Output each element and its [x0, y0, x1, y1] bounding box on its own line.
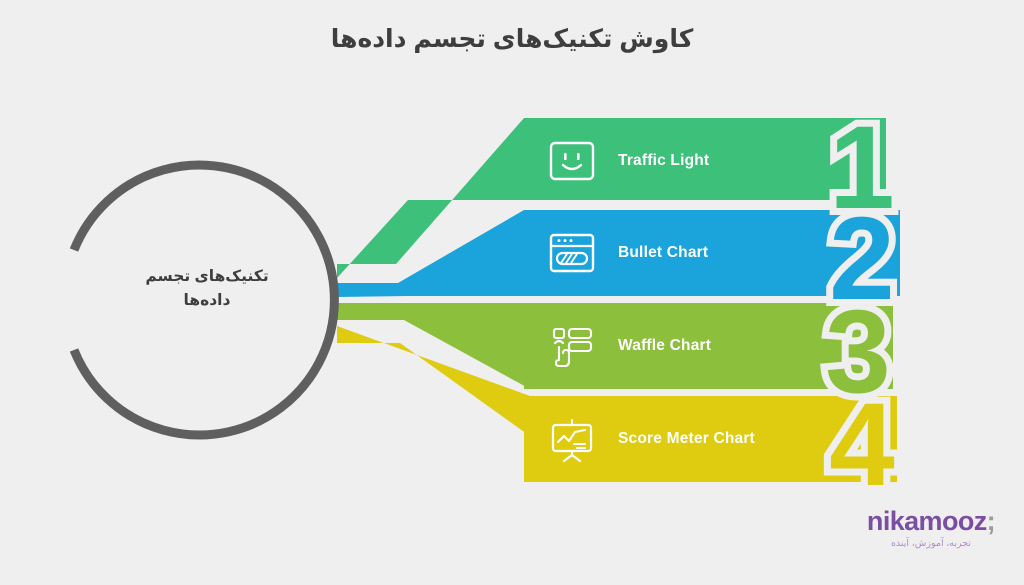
band-label-3: Waffle Chart — [618, 337, 711, 355]
brand-name: nikamooz; — [856, 508, 1006, 535]
presentation-line-chart-icon — [548, 418, 596, 460]
smiley-face-icon — [548, 140, 596, 182]
hub-label-line-2: داده‌ها — [92, 289, 322, 313]
hub-circle-label: تکنیک‌های تجسم داده‌ها — [92, 265, 322, 313]
brand-name-text: nikamooz — [867, 506, 987, 536]
band-item-waffle-chart[interactable]: Waffle Chart — [548, 303, 711, 389]
band-4-number: 4 4 — [829, 379, 895, 511]
band-label-1: Traffic Light — [618, 152, 709, 170]
brand-tagline: تجربه، آموزش، آینده — [856, 538, 1006, 549]
infographic-stage: کاوش تکنیک‌های تجسم داده‌ها 1 1 — [0, 0, 1024, 585]
band-label-2: Bullet Chart — [618, 244, 708, 262]
band-label-4: Score Meter Chart — [618, 430, 755, 448]
hand-tap-blocks-icon — [548, 325, 596, 367]
browser-bullet-bar-icon — [548, 232, 596, 274]
band-item-bullet-chart[interactable]: Bullet Chart — [548, 210, 708, 296]
svg-text:4: 4 — [829, 379, 895, 511]
brand-punct: ; — [987, 506, 995, 536]
hub-label-line-1: تکنیک‌های تجسم — [92, 265, 322, 289]
band-item-traffic-light[interactable]: Traffic Light — [548, 118, 709, 204]
brand-logo[interactable]: nikamooz; تجربه، آموزش، آینده — [856, 508, 1006, 549]
band-item-score-meter-chart[interactable]: Score Meter Chart — [548, 396, 755, 482]
